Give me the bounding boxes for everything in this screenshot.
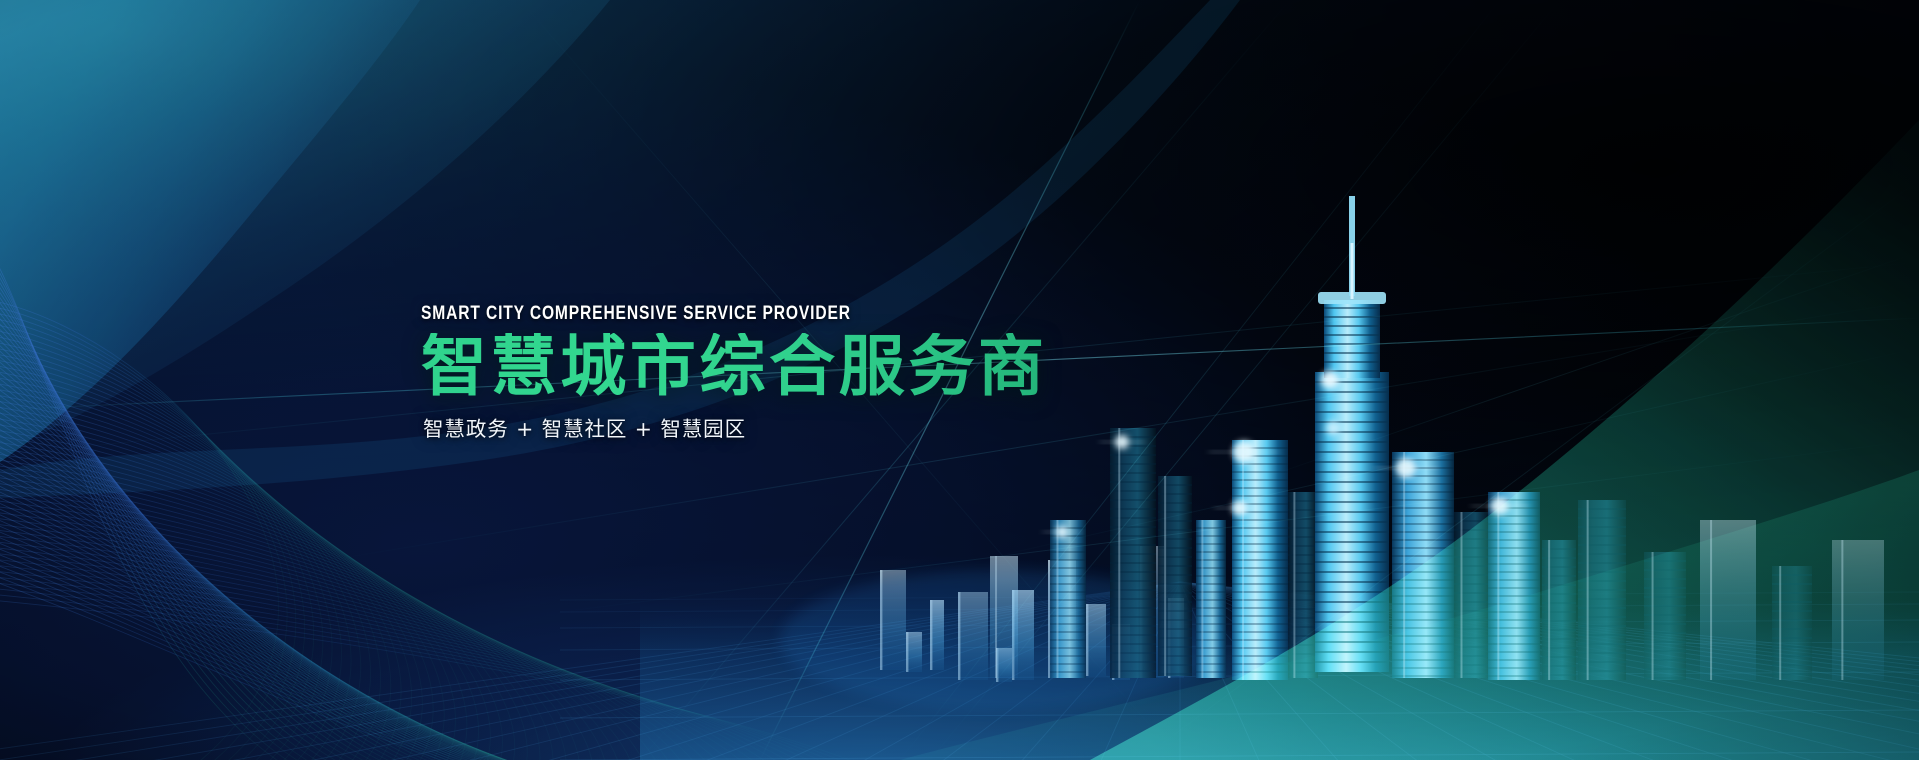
spire-tower: [1315, 196, 1389, 672]
perspective-ground-grid: [0, 582, 1919, 760]
page-title: 智慧城市综合服务商: [421, 333, 1161, 400]
smart-city-hero-banner: SMART CITY COMPREHENSIVE SERVICE PROVIDE…: [0, 0, 1919, 760]
eyebrow-tagline: SMART CITY COMPREHENSIVE SERVICE PROVIDE…: [421, 304, 1013, 324]
hero-text-block: SMART CITY COMPREHENSIVE SERVICE PROVIDE…: [421, 304, 1161, 442]
subtitle-services: 智慧政务 + 智慧社区 + 智慧园区: [423, 412, 1161, 442]
